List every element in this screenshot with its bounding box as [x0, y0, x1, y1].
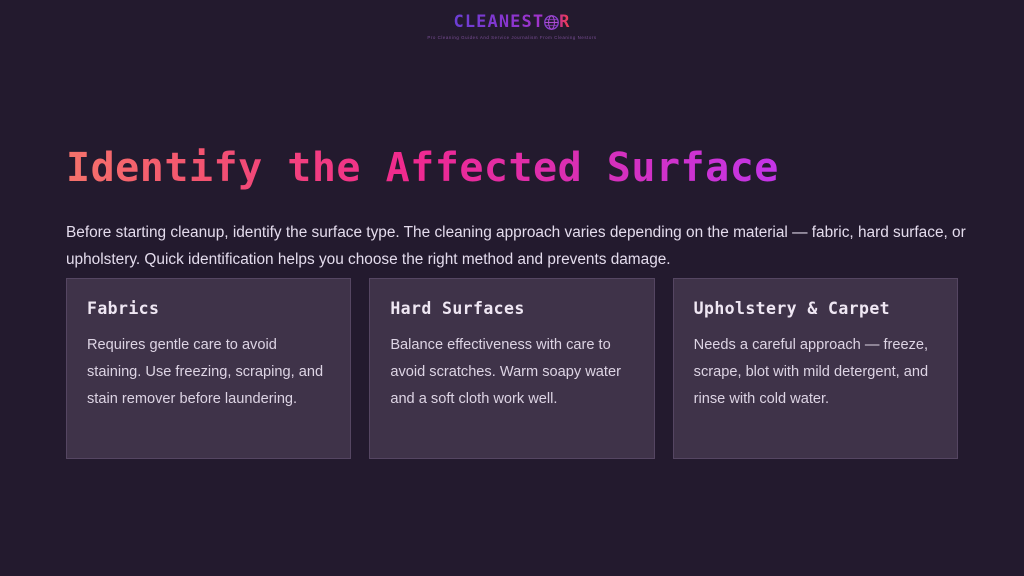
surface-type-card-list: Fabrics Requires gentle care to avoid st…	[66, 278, 958, 459]
brand-name-part1: CLEANEST	[453, 14, 544, 31]
surface-type-card-upholstery-carpet: Upholstery & Carpet Needs a careful appr…	[673, 278, 958, 459]
surface-type-card-fabrics: Fabrics Requires gentle care to avoid st…	[66, 278, 351, 459]
card-title: Upholstery & Carpet	[694, 299, 937, 318]
surface-type-card-hard-surfaces: Hard Surfaces Balance effectiveness with…	[369, 278, 654, 459]
brand-header: CLEANEST R Pro Cleaning Guides And Servi…	[0, 14, 1024, 40]
page-title: Identify the Affected Surface	[66, 145, 779, 191]
card-title: Fabrics	[87, 299, 330, 318]
brand-wordmark[interactable]: CLEANEST R	[453, 14, 570, 31]
card-body: Requires gentle care to avoid staining. …	[87, 332, 330, 413]
card-title: Hard Surfaces	[390, 299, 633, 318]
card-body: Needs a careful approach — freeze, scrap…	[694, 332, 937, 413]
brand-tagline: Pro Cleaning Guides And Service Journali…	[427, 35, 596, 40]
intro-paragraph: Before starting cleanup, identify the su…	[66, 219, 966, 273]
brand-name-part2: R	[559, 14, 570, 31]
card-body: Balance effectiveness with care to avoid…	[390, 332, 633, 413]
globe-icon	[544, 15, 559, 30]
